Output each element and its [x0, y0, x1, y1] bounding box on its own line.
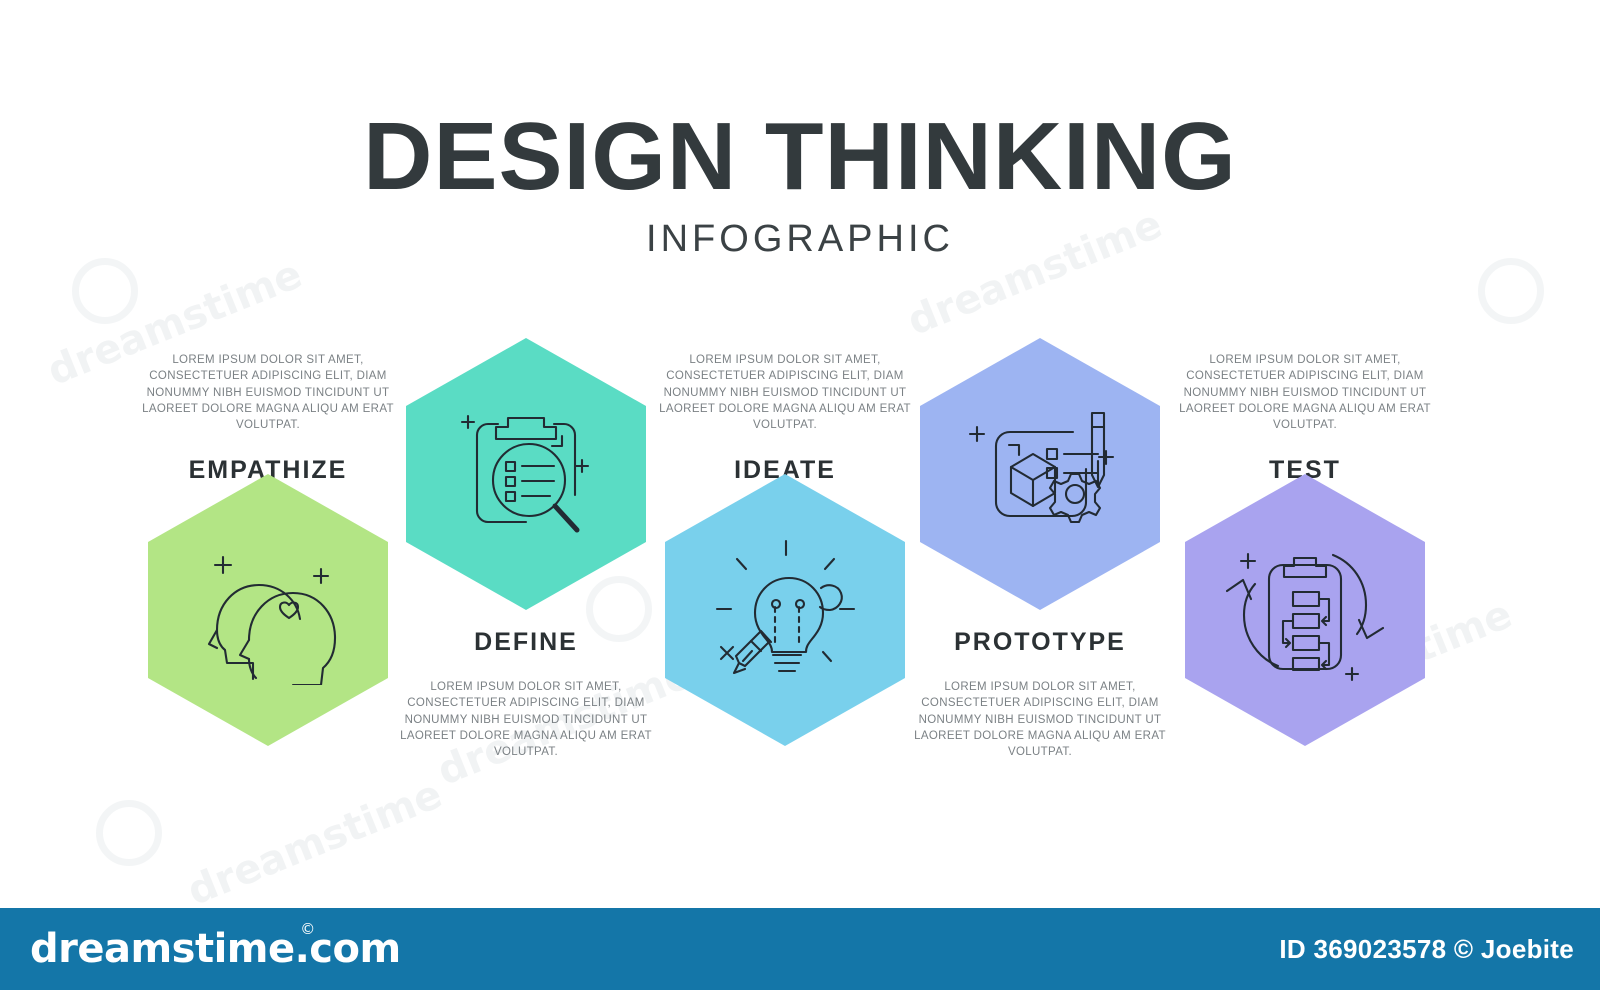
stage-description: LOREM IPSUM DOLOR SIT AMET, CONSECTETUER…	[396, 679, 656, 761]
lightbulb-pencil-icon	[707, 535, 863, 685]
stage-label-define: DEFINE	[396, 628, 656, 657]
hexagon-empathize[interactable]	[148, 474, 388, 746]
header-block: DESIGN THINKING INFOGRAPHIC	[0, 108, 1600, 261]
stage-text-empathize: LOREM IPSUM DOLOR SIT AMET, CONSECTETUER…	[138, 352, 398, 485]
hexagon-test[interactable]	[1185, 474, 1425, 746]
stage-text-define: DEFINE LOREM IPSUM DOLOR SIT AMET, CONSE…	[396, 628, 656, 761]
stage-text-test: LOREM IPSUM DOLOR SIT AMET, CONSECTETUER…	[1175, 352, 1435, 485]
stage-text-prototype: PROTOTYPE LOREM IPSUM DOLOR SIT AMET, CO…	[910, 628, 1170, 761]
watermark-ring	[72, 258, 138, 324]
footer-bar: dreamstime.com © ID 369023578 © Joebite	[0, 908, 1600, 990]
blueprint-cube-gear-pencil-icon	[961, 399, 1119, 549]
page-title: DESIGN THINKING	[0, 108, 1600, 206]
hexagon-define[interactable]	[406, 338, 646, 610]
watermark-text: dreamstime	[181, 771, 448, 915]
clipboard-flowchart-refresh-icon	[1226, 534, 1384, 686]
stage-description: LOREM IPSUM DOLOR SIT AMET, CONSECTETUER…	[1175, 352, 1435, 434]
infographic-canvas: dreamstime dreamstime dreamstime dreamst…	[0, 0, 1600, 990]
watermark-ring	[96, 800, 162, 866]
clipboard-magnifier-icon	[450, 398, 602, 550]
stage-description: LOREM IPSUM DOLOR SIT AMET, CONSECTETUER…	[138, 352, 398, 434]
registered-mark-icon: ©	[300, 920, 315, 938]
dreamstime-logo[interactable]: dreamstime.com ©	[30, 926, 401, 972]
image-credit: ID 369023578 © Joebite	[1279, 934, 1574, 965]
page-subtitle: INFOGRAPHIC	[0, 218, 1600, 261]
stage-text-ideate: LOREM IPSUM DOLOR SIT AMET, CONSECTETUER…	[655, 352, 915, 485]
hexagon-ideate[interactable]	[665, 474, 905, 746]
stage-description: LOREM IPSUM DOLOR SIT AMET, CONSECTETUER…	[910, 679, 1170, 761]
stage-description: LOREM IPSUM DOLOR SIT AMET, CONSECTETUER…	[655, 352, 915, 434]
brand-text: dreamstime.com	[30, 926, 401, 972]
two-heads-heart-icon	[193, 535, 343, 685]
hexagon-prototype[interactable]	[920, 338, 1160, 610]
watermark-ring	[1478, 258, 1544, 324]
stage-label-prototype: PROTOTYPE	[910, 628, 1170, 657]
